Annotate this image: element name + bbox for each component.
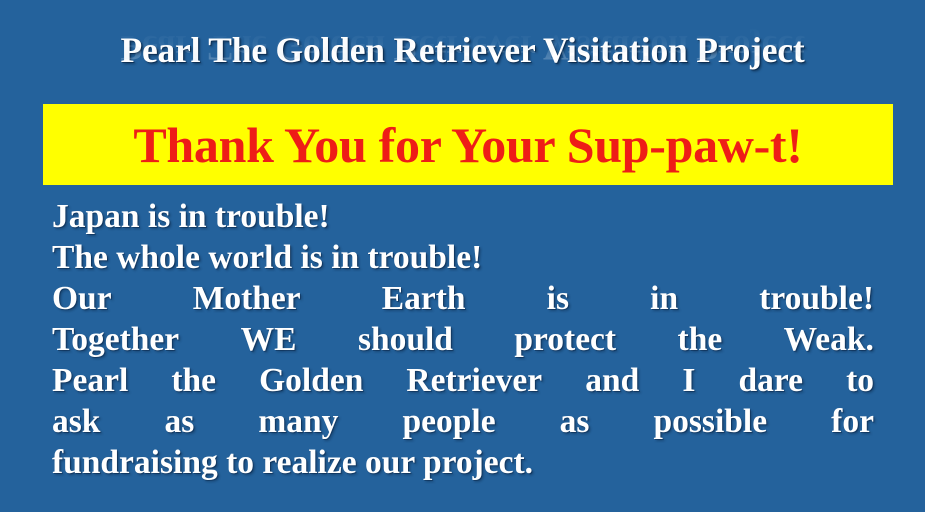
body-line: PearltheGoldenRetrieverandIdareto: [52, 360, 874, 401]
body-line: askasmanypeopleaspossiblefor: [52, 401, 874, 442]
banner-headline: Thank You for Your Sup-paw-t!: [133, 119, 802, 171]
body-word: possible: [654, 401, 768, 442]
body-word: dare: [738, 360, 803, 401]
body-word: Earth: [382, 278, 466, 319]
body-line: The whole world is in trouble!: [52, 237, 874, 278]
body-word: Mother: [193, 278, 301, 319]
body-word: Our: [52, 278, 112, 319]
body-line: TogetherWEshouldprotecttheWeak.: [52, 319, 874, 360]
body-word: Weak.: [784, 319, 874, 360]
body-line: OurMotherEarthisintrouble!: [52, 278, 874, 319]
body-line: Japan is in trouble!: [52, 196, 874, 237]
body-word: as: [165, 401, 195, 442]
body-word: trouble!: [759, 278, 874, 319]
page-title-reflection: Pearl The Golden Retriever Visitation Pr…: [0, 26, 925, 70]
body-word: should: [358, 319, 453, 360]
body-word: Together: [52, 319, 179, 360]
body-word: the: [171, 360, 216, 401]
body-word: protect: [514, 319, 616, 360]
body-word: I: [682, 360, 695, 401]
body-word: Golden: [259, 360, 363, 401]
body-line: fundraising to realize our project.: [52, 442, 874, 483]
body-word: Pearl: [52, 360, 128, 401]
body-word: the: [678, 319, 723, 360]
body-word: as: [560, 401, 590, 442]
body-word: to: [846, 360, 874, 401]
highlight-banner: Thank You for Your Sup-paw-t!: [43, 104, 893, 185]
body-word: many: [258, 401, 338, 442]
body-word: for: [831, 401, 874, 442]
body-word: Retriever: [406, 360, 542, 401]
presentation-slide: Pearl The Golden Retriever Visitation Pr…: [0, 0, 925, 512]
slide-title-block: Pearl The Golden Retriever Visitation Pr…: [0, 28, 925, 102]
body-word: people: [403, 401, 496, 442]
body-word: and: [585, 360, 639, 401]
body-word: in: [650, 278, 678, 319]
body-word: ask: [52, 401, 100, 442]
body-text-block: Japan is in trouble!The whole world is i…: [52, 196, 874, 483]
body-word: WE: [241, 319, 297, 360]
body-word: is: [547, 278, 569, 319]
